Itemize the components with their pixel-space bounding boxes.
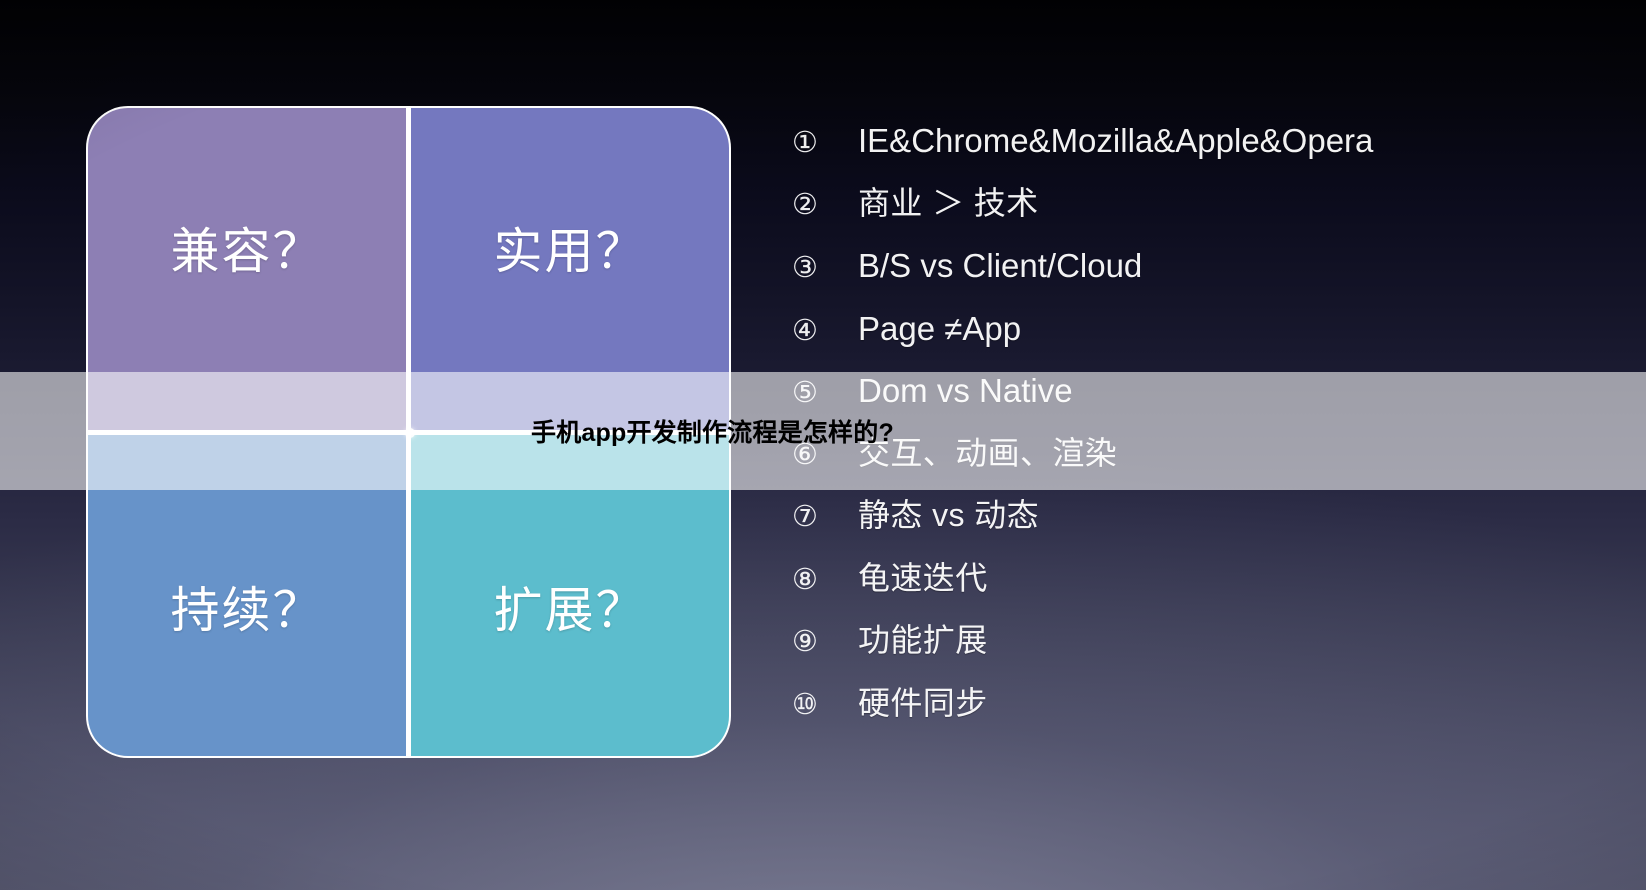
caption-text: 手机app开发制作流程是怎样的? [531, 413, 894, 449]
list-item: ⑨ 功能扩展 [792, 624, 1612, 687]
quadrant-label-compatibility: 兼容？ [170, 228, 323, 277]
quadrant-label-usability: 实用？ [493, 228, 646, 277]
caption-container: 手机app开发制作流程是怎样的? [0, 372, 1646, 490]
list-item-text: B/S vs Client/Cloud [858, 249, 1142, 282]
list-item-text: Page ≠App [858, 312, 1021, 345]
list-item: ① IE&Chrome&Mozilla&Apple&Opera [792, 124, 1612, 187]
list-item: ⑩ 硬件同步 [792, 687, 1612, 750]
list-item: ④ Page ≠App [792, 312, 1612, 375]
list-item-text: IE&Chrome&Mozilla&Apple&Opera [858, 124, 1373, 157]
list-item: ② 商业 ＞ 技术 [792, 187, 1612, 250]
list-marker-icon: ① [792, 128, 858, 157]
list-item: ③ B/S vs Client/Cloud [792, 249, 1612, 312]
slide-canvas: 兼容？ 实用？ 持续？ 扩展？ ① IE&Chrome&Mozilla&Appl… [0, 0, 1646, 890]
list-item-text: 功能扩展 [858, 624, 988, 656]
list-marker-icon: ⑧ [792, 565, 858, 594]
list-marker-icon: ⑩ [792, 690, 858, 719]
list-marker-icon: ④ [792, 316, 858, 345]
list-marker-icon: ② [792, 190, 858, 219]
quadrant-label-extensibility: 扩展？ [493, 587, 646, 636]
list-item: ⑦ 静态 vs 动态 [792, 499, 1612, 562]
list-marker-icon: ③ [792, 253, 858, 282]
list-item: ⑧ 龟速迭代 [792, 562, 1612, 625]
list-item-text: 商业 ＞ 技术 [858, 187, 1039, 219]
list-item-text: 龟速迭代 [858, 562, 988, 594]
quadrant-label-sustainability: 持续？ [170, 587, 323, 636]
list-item-text: 静态 vs 动态 [858, 499, 1039, 531]
list-marker-icon: ⑦ [792, 502, 858, 531]
list-marker-icon: ⑨ [792, 627, 858, 656]
list-item-text: 硬件同步 [858, 687, 988, 719]
